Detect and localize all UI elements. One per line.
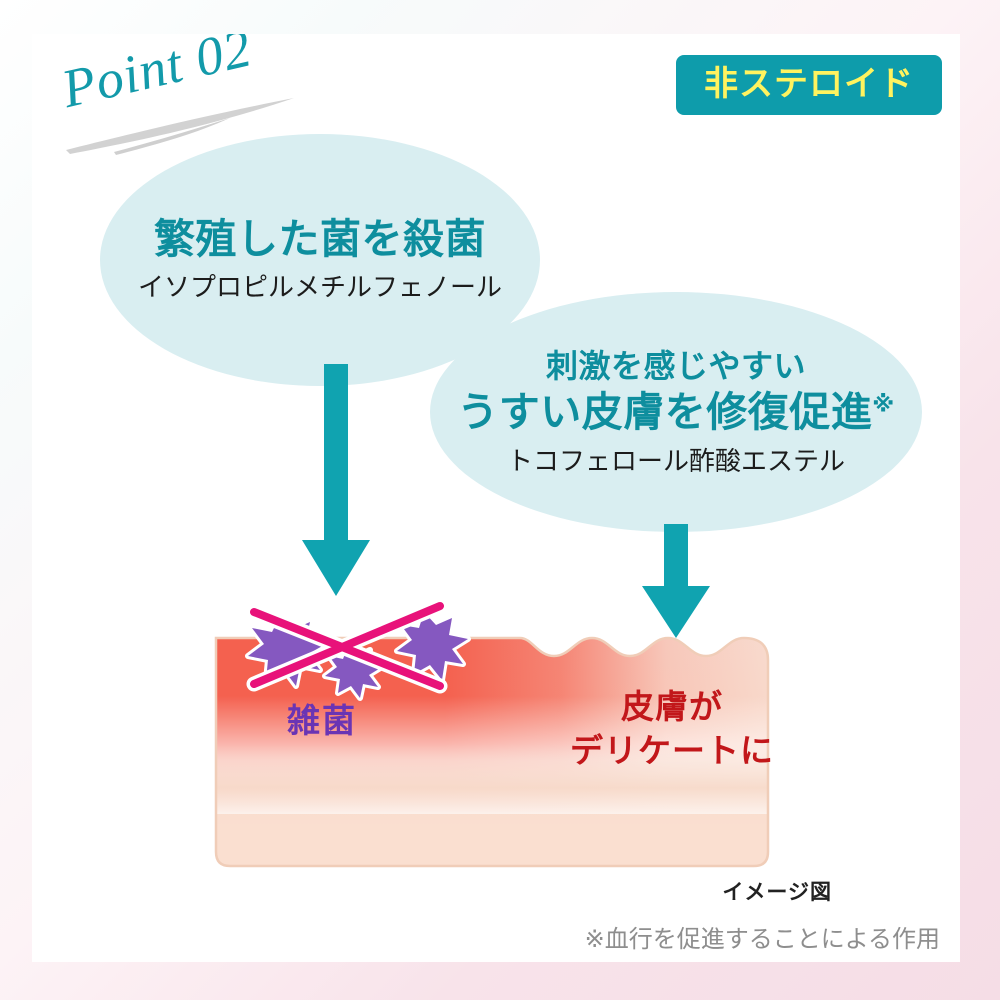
image-note-caption: イメージ図: [722, 876, 832, 906]
bacteria-label: 雑菌: [287, 694, 357, 742]
reference-mark: ※: [872, 392, 894, 417]
skin-condition-line-1: 皮膚が: [552, 685, 792, 729]
bubble-repair-heading: うすい皮膚を修復促進※: [457, 389, 894, 436]
bubble-repair: 刺激を感じやすい うすい皮膚を修復促進※ トコフェロール酢酸エステル: [430, 292, 922, 532]
point-label: Point 02: [56, 34, 258, 120]
skin-condition-line-2: デリケートに: [552, 729, 792, 773]
skin-condition-label: 皮膚が デリケートに: [552, 685, 792, 772]
non-steroid-badge: 非ステロイド: [676, 55, 942, 115]
bubble-repair-heading-text: うすい皮膚を修復促進: [457, 389, 872, 435]
bubble-repair-subheading: 刺激を感じやすい: [546, 347, 806, 385]
poster-background: Point 02 非ステロイド 繁殖した菌を殺菌 イソプロピルメチルフェノール …: [0, 0, 1000, 1000]
bubble-antibacterial-heading: 繁殖した菌を殺菌: [154, 216, 486, 263]
footnote-caption: ※血行を促進することによる作用: [585, 919, 940, 954]
bubble-repair-subtext: トコフェロール酢酸エステル: [507, 445, 845, 478]
content-card: Point 02 非ステロイド 繁殖した菌を殺菌 イソプロピルメチルフェノール …: [32, 34, 960, 962]
bubble-antibacterial-subtext: イソプロピルメチルフェノール: [138, 271, 502, 304]
arrow-to-bacteria-icon: [300, 364, 372, 600]
